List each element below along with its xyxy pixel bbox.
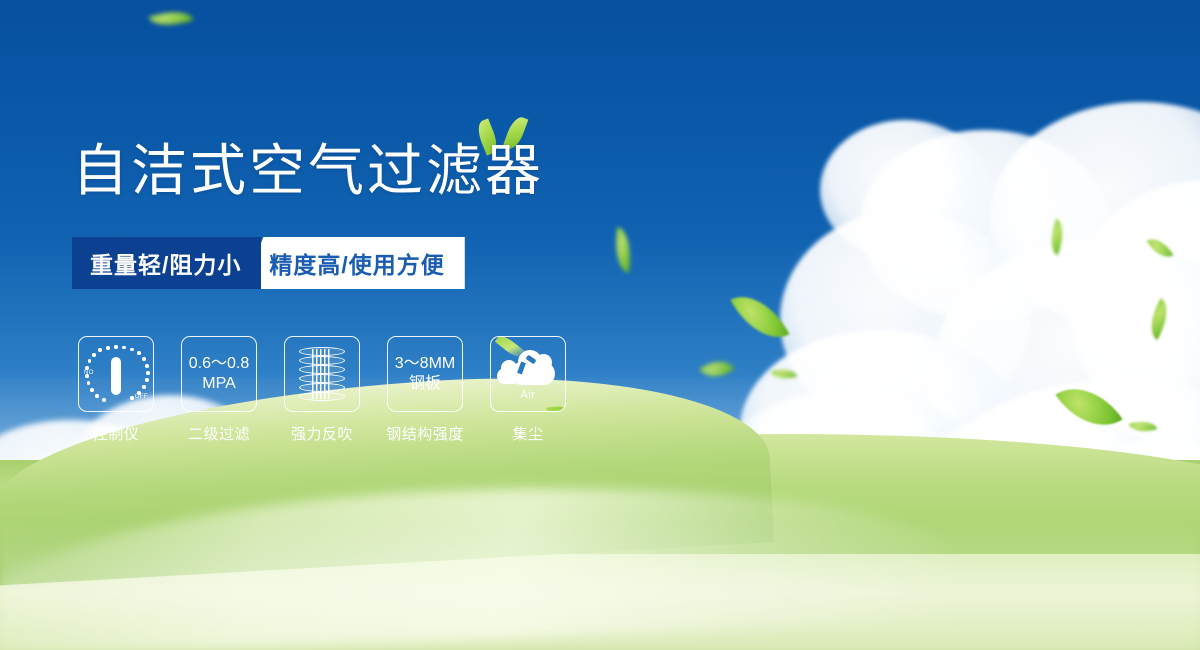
steel-plate-text-icon: 3〜8MM 钢板	[395, 354, 455, 393]
feature-label: 二级过滤	[188, 423, 250, 444]
feature-item-controller[interactable]: NO OFF 控制仪	[78, 336, 154, 444]
feature-icon-box[interactable]	[284, 336, 360, 412]
pressure-text-icon: 0.6〜0.8 MPA	[189, 354, 250, 393]
leaf-accent-icon	[546, 402, 566, 412]
gauge-needle-icon	[111, 357, 121, 395]
gauge-dial-icon: NO OFF	[85, 345, 147, 403]
gauge-off-label: OFF	[135, 394, 148, 400]
filter-coil-icon	[296, 345, 348, 403]
feature-icon-box[interactable]: 0.6〜0.8 MPA	[181, 336, 257, 412]
air-label: Air	[497, 389, 559, 401]
feature-icon-box[interactable]: 3〜8MM 钢板	[387, 336, 463, 412]
subtitle-left-panel: 重量轻/阻力小	[72, 237, 261, 289]
gauge-on-label: NO	[84, 370, 94, 376]
page-title: 自洁式空气过滤器	[72, 143, 544, 199]
feature-label: 集尘	[512, 423, 543, 444]
banner-content: 自洁式空气过滤器 重量轻/阻力小 精度高/使用方便	[0, 0, 1200, 650]
feature-item-steel[interactable]: 3〜8MM 钢板 钢结构强度	[387, 336, 463, 444]
feature-label: 强力反吹	[291, 423, 353, 444]
feature-item-dust[interactable]: Air 集尘	[490, 336, 566, 444]
feature-item-backblow[interactable]: 强力反吹	[284, 336, 360, 444]
feature-item-pressure[interactable]: 0.6〜0.8 MPA 二级过滤	[181, 336, 257, 444]
feature-icon-row: NO OFF 控制仪 0.6〜0.8 MPA 二级过滤	[78, 336, 566, 444]
feature-label: 控制仪	[93, 423, 140, 444]
feature-label: 钢结构强度	[386, 423, 464, 444]
product-hero-banner: 自洁式空气过滤器 重量轻/阻力小 精度高/使用方便	[0, 0, 1200, 650]
feature-icon-box[interactable]: Air	[490, 336, 566, 412]
cloud-air-icon: Air	[497, 349, 559, 399]
pressure-range-line: 0.6〜0.8	[189, 354, 250, 374]
steel-material-line: 钢板	[395, 374, 455, 394]
feature-icon-box[interactable]: NO OFF	[78, 336, 154, 412]
pressure-unit-line: MPA	[189, 374, 250, 394]
steel-thickness-line: 3〜8MM	[395, 354, 455, 374]
subtitle-right-panel: 精度高/使用方便	[243, 237, 464, 289]
subtitle-bar: 重量轻/阻力小 精度高/使用方便	[72, 237, 465, 289]
